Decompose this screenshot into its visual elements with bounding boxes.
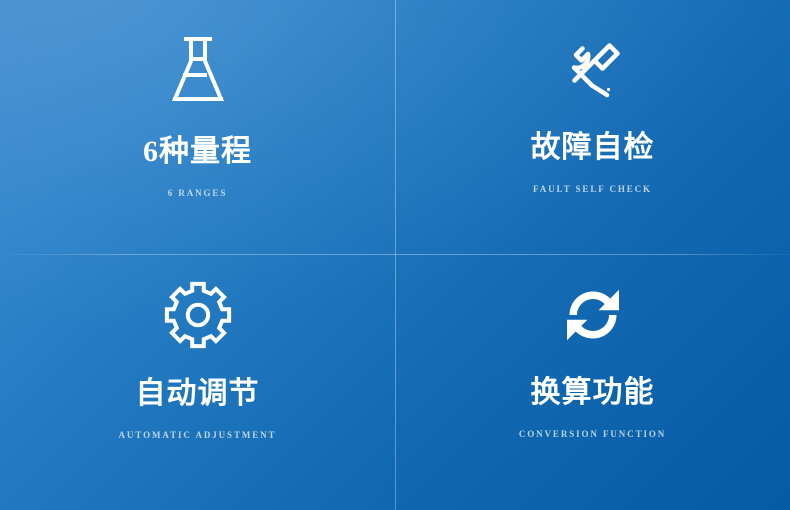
feature-cell-automatic-adjustment: 自动调节 AUTOMATIC ADJUSTMENT xyxy=(0,254,395,510)
product-feature-highlights: 6种量程 6 RANGES 故障自检 FAULT SELF CHECK xyxy=(0,0,790,510)
feature-subtitle: FAULT SELF CHECK xyxy=(533,185,652,194)
feature-title: 换算功能 xyxy=(531,378,655,408)
feature-title: 自动调节 xyxy=(136,379,260,409)
feature-cell-self-check: 故障自检 FAULT SELF CHECK xyxy=(395,0,790,254)
feature-title: 故障自检 xyxy=(531,133,655,163)
feature-title: 6种量程 xyxy=(143,137,252,167)
feature-cell-conversion: 换算功能 CONVERSION FUNCTION xyxy=(395,254,790,510)
feature-subtitle: CONVERSION FUNCTION xyxy=(519,430,666,439)
gear-icon xyxy=(168,285,228,345)
feature-cell-ranges: 6种量程 6 RANGES xyxy=(0,0,395,254)
flask-icon xyxy=(170,35,226,107)
feature-subtitle: AUTOMATIC ADJUSTMENT xyxy=(119,431,277,440)
refresh-sync-icon xyxy=(564,286,622,344)
feature-subtitle: 6 RANGES xyxy=(168,189,227,198)
feature-grid: 6种量程 6 RANGES 故障自检 FAULT SELF CHECK xyxy=(0,0,790,510)
wrench-screwdriver-icon xyxy=(562,39,624,101)
